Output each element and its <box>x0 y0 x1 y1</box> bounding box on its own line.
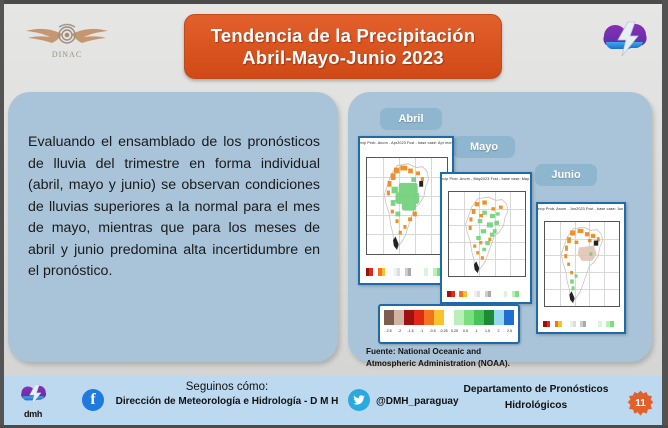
forecast-map-mayo[interactable]: NMME Precip Prob. Anom - May2023 Fcst - … <box>440 172 532 304</box>
dmh-cloud-lightning-logo <box>598 12 650 64</box>
colorbar-tick: -1.5 <box>405 326 416 337</box>
facebook-page-name[interactable]: Dirección de Meteorología e Hidrología -… <box>108 396 346 407</box>
colorbar-tick: -0.25 <box>438 326 449 337</box>
follow-label: Seguinos cómo: <box>112 381 342 393</box>
maps-panel: Abril Mayo Junio NMME Precip Prob. Anom … <box>348 92 652 362</box>
colorbar-tick: 0.25 <box>449 326 460 337</box>
map-legend-abril <box>366 263 447 279</box>
facebook-icon[interactable]: f <box>82 389 104 411</box>
map-plot-abril <box>366 157 447 255</box>
slide-frame-left <box>0 0 4 428</box>
department-label: Departamento de Pronósticos Hidrológicos <box>446 382 626 414</box>
page-number: 11 <box>627 390 654 417</box>
forecast-map-junio[interactable]: NMME Precip Prob. Anom - Jun2023 Fcst - … <box>536 202 626 334</box>
map-plot-junio <box>544 221 620 307</box>
colorbar-tick: 1.5 <box>482 326 493 337</box>
dmh-cloud-lightning-logo-footer <box>16 379 50 409</box>
map-geometry-junio <box>545 222 619 306</box>
dmh-label: dmh <box>16 409 50 419</box>
slide-canvas: DINAC Tendencia de la Precipitación Abri… <box>0 0 668 428</box>
map-geometry-mayo <box>449 192 525 276</box>
twitter-bird-glyph <box>352 393 366 407</box>
colorbar-tick: -0.5 <box>427 326 438 337</box>
map-title-abril: NMME Precip Prob. Anom - Apr2023 Fcst - … <box>358 141 454 145</box>
slide-title-line-2: Abril-Mayo-Junio 2023 <box>242 47 444 69</box>
map-legend-junio <box>543 314 619 328</box>
map-plot-mayo <box>448 191 526 277</box>
source-attribution: Fuente: National Oceanic and Atmospheric… <box>366 346 596 370</box>
dinac-wings-icon <box>18 20 116 50</box>
department-line-2: Hidrológicos <box>446 398 626 414</box>
dinac-logo-text: DINAC <box>18 50 116 59</box>
colorbar-tick: 0.5 <box>460 326 471 337</box>
footer-bar: dmh f Seguinos cómo: Dirección de Meteor… <box>4 376 662 425</box>
month-tab-mayo[interactable]: Mayo <box>453 136 515 158</box>
source-line-2: Atmospheric Administration (NOAA). <box>366 358 596 370</box>
dinac-logo: DINAC <box>18 14 116 66</box>
colorbar-tick: -2 <box>394 326 405 337</box>
month-tab-abril[interactable]: Abril <box>380 108 442 130</box>
colorbar-tick: -1 <box>416 326 427 337</box>
map-geometry-abril <box>367 158 446 254</box>
colorbar-swatches <box>384 310 514 325</box>
source-line-1: Fuente: National Oceanic and <box>366 346 596 358</box>
map-legend-mayo <box>447 284 524 298</box>
colorbar-tick: -2.5 <box>383 326 394 337</box>
twitter-icon[interactable] <box>348 389 370 411</box>
department-line-1: Departamento de Pronósticos <box>446 382 626 398</box>
slide-title-box: Tendencia de la Precipitación Abril-Mayo… <box>184 14 502 79</box>
colorbar-tick: 2.5 <box>504 326 515 337</box>
colorbar-tick: 1 <box>471 326 482 337</box>
precipitation-anomaly-colorbar: -2.5 -2 -1.5 -1 -0.5 -0.25 0.25 0.5 1 1.… <box>378 304 520 344</box>
map-title-mayo: NMME Precip Prob. Anom - May2023 Fcst - … <box>440 177 532 181</box>
slide-frame-top <box>0 0 668 4</box>
colorbar-tick: 2 <box>493 326 504 337</box>
map-title-junio: NMME Precip Prob. Anom - Jun2023 Fcst - … <box>536 207 626 211</box>
month-tab-junio[interactable]: Junio <box>535 164 597 186</box>
summary-text-panel: Evaluando el ensamblado de los pronóstic… <box>8 92 338 362</box>
summary-text: Evaluando el ensamblado de los pronóstic… <box>28 132 320 283</box>
slide-title-line-1: Tendencia de la Precipitación <box>211 25 476 47</box>
slide-frame-right <box>662 0 668 428</box>
colorbar-ticks: -2.5 -2 -1.5 -1 -0.5 -0.25 0.25 0.5 1 1.… <box>383 326 515 337</box>
